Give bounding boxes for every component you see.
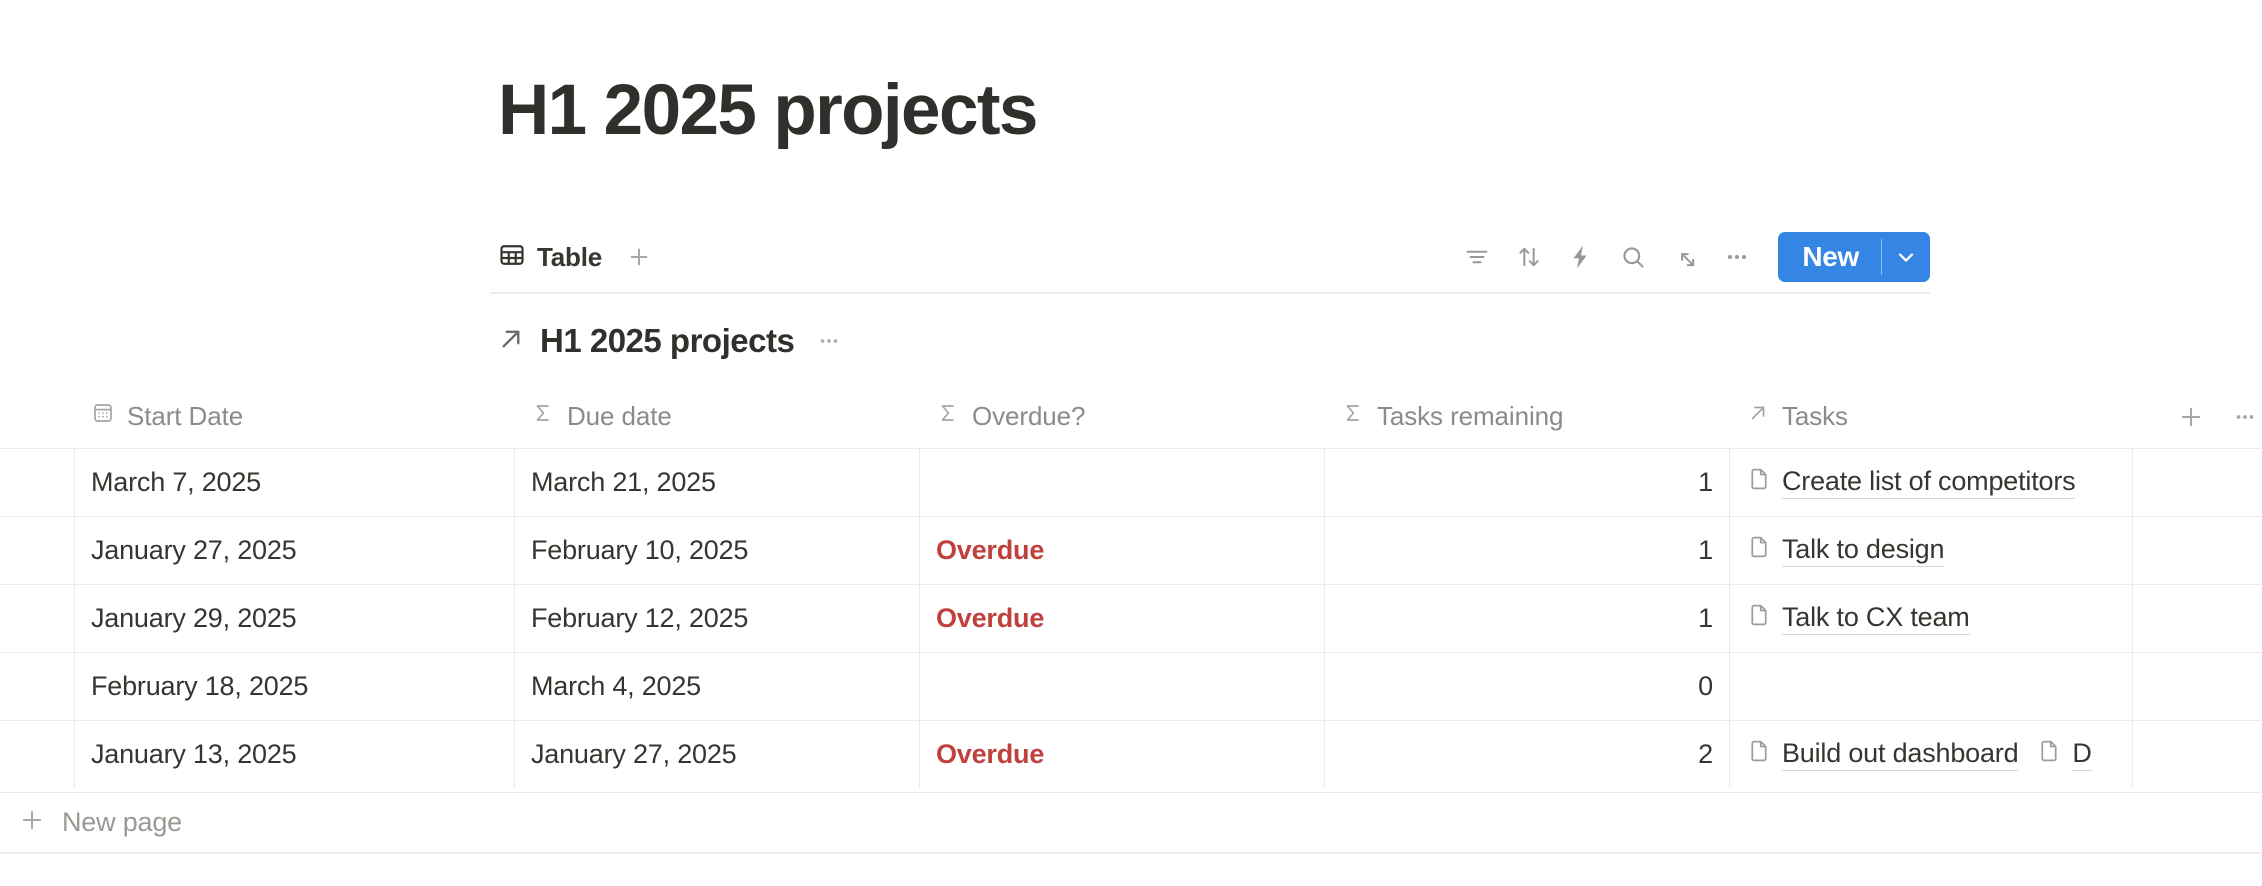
cell-due-date[interactable]: February 10, 2025	[515, 517, 920, 584]
view-tabs: Table	[490, 236, 660, 278]
sort-button[interactable]	[1506, 234, 1552, 280]
cell-tasks[interactable]: Talk to design	[1730, 517, 2133, 584]
tab-table-label: Table	[537, 242, 602, 273]
view-more-button[interactable]	[1714, 234, 1760, 280]
formula-sigma-icon	[531, 401, 555, 432]
tab-table[interactable]: Table	[490, 237, 610, 278]
cell-due-date[interactable]: March 4, 2025	[515, 653, 920, 720]
new-button[interactable]: New	[1778, 232, 1881, 282]
cell-overflow	[2133, 449, 2262, 516]
page-icon	[1746, 602, 1772, 635]
row-gutter	[0, 385, 75, 448]
cell-start-date[interactable]: February 18, 2025	[75, 653, 515, 720]
column-options-button[interactable]	[2223, 395, 2262, 439]
cell-overflow	[2133, 721, 2262, 788]
row-gutter[interactable]	[0, 449, 75, 516]
table-row[interactable]: February 18, 2025March 4, 20250	[0, 652, 2262, 720]
cell-start-date[interactable]: March 7, 2025	[75, 449, 515, 516]
filter-button[interactable]	[1454, 234, 1500, 280]
cell-start-date[interactable]: January 27, 2025	[75, 517, 515, 584]
task-relation-chip[interactable]: Build out dashboard	[1746, 738, 2018, 771]
overdue-badge: Overdue	[936, 603, 1044, 634]
cell-due-date[interactable]: February 12, 2025	[515, 585, 920, 652]
column-header-tasks-remaining[interactable]: Tasks remaining	[1325, 385, 1730, 448]
cell-overdue[interactable]: Overdue	[920, 585, 1325, 652]
ellipsis-icon	[816, 328, 842, 354]
cell-overflow	[2133, 517, 2262, 584]
filter-icon	[1463, 243, 1491, 271]
search-icon	[1619, 243, 1647, 271]
cell-tasks-remaining[interactable]: 1	[1325, 585, 1730, 652]
tasks-remaining-value: 1	[1698, 603, 1713, 634]
cell-due-date[interactable]: January 27, 2025	[515, 721, 920, 788]
relation-arrow-icon	[1746, 401, 1770, 432]
task-relation-chip[interactable]: Talk to CX team	[1746, 602, 1970, 635]
cell-tasks-remaining[interactable]: 1	[1325, 517, 1730, 584]
task-relation-label: Build out dashboard	[1782, 738, 2018, 771]
database-table: Start Date Due date Overdue?	[0, 385, 2262, 788]
page-icon	[2036, 738, 2062, 771]
toolbar-actions: New	[1454, 232, 1930, 282]
cell-due-date[interactable]: March 21, 2025	[515, 449, 920, 516]
table-row[interactable]: January 13, 2025January 27, 2025Overdue2…	[0, 720, 2262, 788]
search-button[interactable]	[1610, 234, 1656, 280]
arrow-up-right-icon	[496, 324, 526, 359]
overdue-badge: Overdue	[936, 535, 1044, 566]
cell-tasks[interactable]: Build out dashboardD	[1730, 721, 2133, 788]
ellipsis-icon	[1723, 243, 1751, 271]
overdue-badge: Overdue	[936, 739, 1044, 770]
cell-overflow	[2133, 585, 2262, 652]
cell-start-date[interactable]: January 29, 2025	[75, 585, 515, 652]
page-title: H1 2025 projects	[498, 68, 1037, 154]
column-header-label: Start Date	[127, 401, 243, 432]
column-header-start-date[interactable]: Start Date	[75, 385, 515, 448]
tasks-remaining-value: 0	[1698, 671, 1713, 702]
table-body: March 7, 2025March 21, 20251Create list …	[0, 448, 2262, 788]
new-button-label: New	[1802, 241, 1859, 273]
task-relation-chip[interactable]: Talk to design	[1746, 534, 1944, 567]
column-header-tasks[interactable]: Tasks	[1730, 385, 2133, 448]
ellipsis-icon	[2232, 404, 2258, 430]
table-row[interactable]: March 7, 2025March 21, 20251Create list …	[0, 448, 2262, 516]
column-header-label: Tasks	[1782, 401, 1848, 432]
formula-sigma-icon	[1341, 401, 1365, 432]
table-row[interactable]: January 27, 2025February 10, 2025Overdue…	[0, 516, 2262, 584]
task-relation-label: Talk to design	[1782, 534, 1944, 567]
tasks-remaining-value: 1	[1698, 467, 1713, 498]
task-relation-label: Talk to CX team	[1782, 602, 1970, 635]
table-header-row: Start Date Due date Overdue?	[0, 385, 2262, 448]
tasks-remaining-value: 2	[1698, 739, 1713, 770]
new-page-row[interactable]: New page	[0, 792, 2262, 854]
column-header-label: Overdue?	[972, 401, 1085, 432]
new-button-group[interactable]: New	[1778, 232, 1930, 282]
cell-overdue[interactable]	[920, 449, 1325, 516]
add-column-button[interactable]	[2169, 395, 2213, 439]
chevron-down-icon	[1893, 244, 1919, 270]
lightning-icon	[1567, 243, 1595, 271]
row-gutter[interactable]	[0, 585, 75, 652]
new-button-dropdown[interactable]	[1882, 232, 1930, 282]
task-relation-chip[interactable]: Create list of competitors	[1746, 466, 2075, 499]
calendar-icon	[91, 401, 115, 432]
cell-overdue[interactable]	[920, 653, 1325, 720]
column-header-label: Tasks remaining	[1377, 401, 1563, 432]
task-relation-label: D	[2072, 738, 2091, 771]
cell-tasks[interactable]: Create list of competitors	[1730, 449, 2133, 516]
row-gutter[interactable]	[0, 721, 75, 788]
new-page-label: New page	[62, 807, 182, 838]
add-view-button[interactable]	[618, 236, 660, 278]
formula-sigma-icon	[936, 401, 960, 432]
page-icon	[1746, 738, 1772, 771]
database-header: H1 2025 projects	[496, 322, 850, 360]
column-header-due-date[interactable]: Due date	[515, 385, 920, 448]
row-gutter[interactable]	[0, 517, 75, 584]
database-title[interactable]: H1 2025 projects	[540, 322, 794, 360]
table-icon	[498, 241, 526, 274]
cell-start-date[interactable]: January 13, 2025	[75, 721, 515, 788]
expand-button[interactable]	[1662, 234, 1708, 280]
view-toolbar: Table	[490, 232, 1930, 294]
plus-icon	[2177, 403, 2205, 431]
tasks-remaining-value: 1	[1698, 535, 1713, 566]
cell-tasks[interactable]	[1730, 653, 2133, 720]
plus-icon	[625, 243, 653, 271]
table-header-actions	[2133, 385, 2262, 448]
task-relation-chip[interactable]: D	[2036, 738, 2091, 771]
table-row[interactable]: January 29, 2025February 12, 2025Overdue…	[0, 584, 2262, 652]
task-relation-label: Create list of competitors	[1782, 466, 2075, 499]
column-header-overdue[interactable]: Overdue?	[920, 385, 1325, 448]
database-more-button[interactable]	[808, 324, 850, 358]
cell-tasks-remaining[interactable]: 1	[1325, 449, 1730, 516]
page-icon	[1746, 534, 1772, 567]
cell-overdue[interactable]: Overdue	[920, 517, 1325, 584]
cell-overdue[interactable]: Overdue	[920, 721, 1325, 788]
automation-button[interactable]	[1558, 234, 1604, 280]
row-gutter[interactable]	[0, 653, 75, 720]
column-header-label: Due date	[567, 401, 672, 432]
cell-overflow	[2133, 653, 2262, 720]
plus-icon	[18, 806, 46, 839]
page-icon	[1746, 466, 1772, 499]
cell-tasks[interactable]: Talk to CX team	[1730, 585, 2133, 652]
sort-icon	[1515, 243, 1543, 271]
cell-tasks-remaining[interactable]: 2	[1325, 721, 1730, 788]
cell-tasks-remaining[interactable]: 0	[1325, 653, 1730, 720]
expand-icon	[1671, 243, 1699, 271]
